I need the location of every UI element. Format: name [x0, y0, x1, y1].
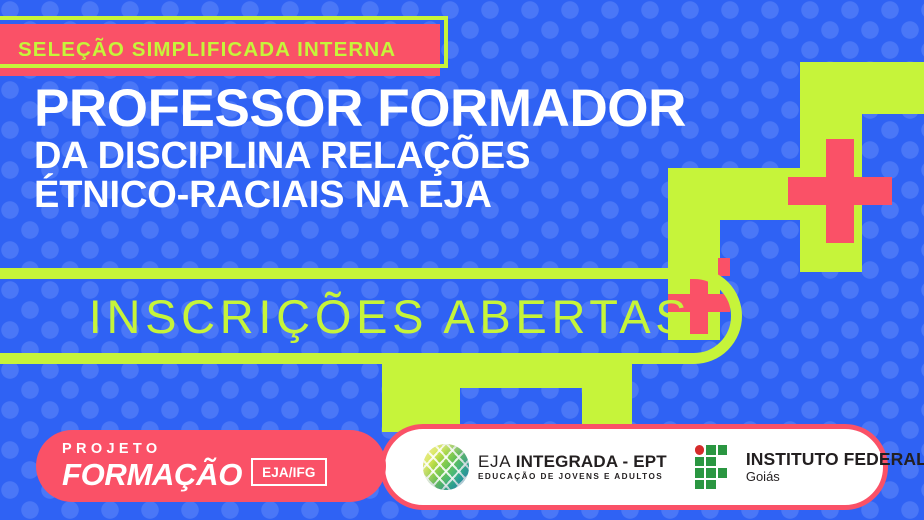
promotional-banner: SELEÇÃO SIMPLIFICADA INTERNA PROFESSOR F… — [0, 0, 924, 520]
project-kicker: PROJETO — [62, 442, 242, 457]
instituto-federal-goias-logo: INSTITUTO FEDERAL Goiás — [695, 445, 924, 489]
page-title: PROFESSOR FORMADOR DA DISCIPLINA RELAÇÕE… — [34, 84, 686, 215]
logo-row: EJA INTEGRADA - EPT EDUCAÇÃO DE JOVENS E… — [423, 444, 924, 490]
eja-logo-title-thin: EJA — [478, 452, 516, 471]
partner-logos-card: EJA INTEGRADA - EPT EDUCAÇÃO DE JOVENS E… — [380, 424, 888, 510]
headline-line-3: ÉTNICO-RACIAIS NA EJA — [34, 176, 686, 215]
if-logo-text: INSTITUTO FEDERAL Goiás — [746, 450, 924, 483]
eja-logo-text: EJA INTEGRADA - EPT EDUCAÇÃO DE JOVENS E… — [478, 453, 667, 482]
if-logo-title: INSTITUTO FEDERAL — [746, 450, 924, 468]
green-stepped-tail-shape — [382, 360, 632, 432]
eja-logo-subtitle: EDUCAÇÃO DE JOVENS E ADULTOS — [478, 473, 667, 482]
eja-logo-title-bold: INTEGRADA - EPT — [516, 452, 667, 471]
footer: EJA INTEGRADA - EPT EDUCAÇÃO DE JOVENS E… — [0, 424, 924, 520]
project-title: FORMAÇÃO — [62, 459, 242, 490]
pink-plus-large-icon — [788, 139, 892, 243]
project-pill-text: PROJETO FORMAÇÃO — [62, 442, 242, 490]
callout-label: INSCRIÇÕES ABERTAS — [40, 268, 740, 364]
if-logo-subtitle: Goiás — [746, 470, 924, 484]
globe-icon — [423, 444, 469, 490]
headline-line-1: PROFESSOR FORMADOR — [34, 84, 686, 135]
project-tag: EJA/IFG — [251, 458, 326, 486]
badge-label: SELEÇÃO SIMPLIFICADA INTERNA — [18, 24, 448, 76]
if-grid-icon — [695, 445, 737, 489]
headline-line-2: DA DISCIPLINA RELAÇÕES — [34, 137, 686, 176]
eja-logo-title: EJA INTEGRADA - EPT — [478, 453, 667, 471]
project-pill: PROJETO FORMAÇÃO EJA/IFG — [36, 430, 386, 502]
project-pill-content: PROJETO FORMAÇÃO EJA/IFG — [62, 442, 327, 490]
eja-integrada-ept-logo: EJA INTEGRADA - EPT EDUCAÇÃO DE JOVENS E… — [423, 444, 667, 490]
